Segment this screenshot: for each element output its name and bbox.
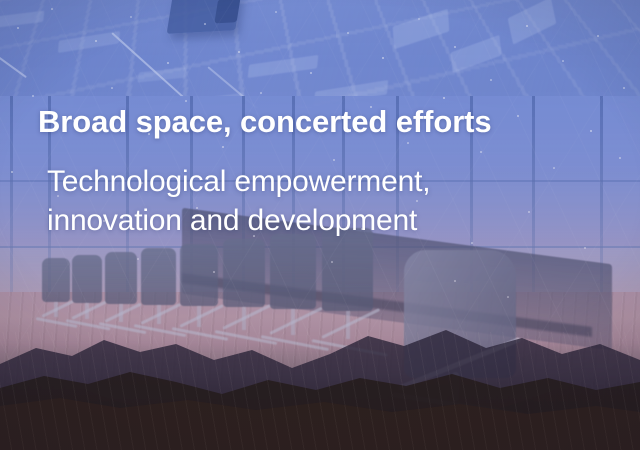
banner-subheadline-line-2: innovation and development bbox=[47, 201, 608, 241]
banner-headline: Broad space, concerted efforts bbox=[38, 104, 608, 141]
banner-subheadline-line-1: Technological empowerment, bbox=[47, 162, 608, 202]
banner-subheadline: Technological empowerment, innovation an… bbox=[47, 162, 608, 241]
hero-banner: Broad space, concerted efforts Technolog… bbox=[0, 0, 640, 450]
banner-copy: Broad space, concerted efforts Technolog… bbox=[38, 104, 608, 241]
